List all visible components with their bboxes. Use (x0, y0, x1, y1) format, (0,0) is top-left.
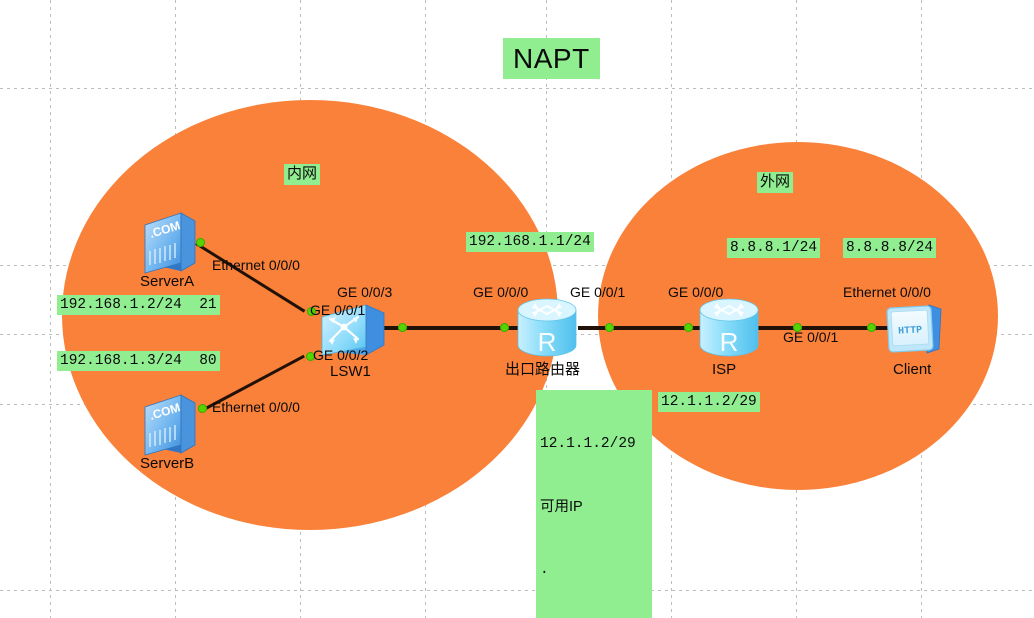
svg-text:HTTP: HTTP (898, 325, 923, 337)
address-tag-serverB: 192.168.1.3/24 80 (57, 351, 220, 371)
address-tag-client: 8.8.8.8/24 (843, 238, 936, 258)
svg-text:R: R (720, 327, 739, 357)
address-tag-serverA: 192.168.1.2/24 21 (57, 295, 220, 315)
address-tag-isp-ext: 8.8.8.1/24 (727, 238, 820, 258)
device-label-client: Client (893, 362, 931, 379)
router-icon: R (696, 297, 762, 359)
device-label-lsw1: LSW1 (330, 364, 371, 381)
iface-label-lsw1-ge3: GE 0/0/3 (337, 285, 392, 300)
link-dot-router-ge1 (605, 323, 614, 332)
device-serverA[interactable]: .COM (137, 211, 199, 275)
device-label-egress-router: 出口路由器 (505, 362, 580, 379)
server-com-icon: .COM (137, 393, 199, 457)
link-dot-isp-ge0 (684, 323, 693, 332)
device-label-serverB: ServerB (140, 456, 194, 473)
device-serverB[interactable]: .COM (137, 393, 199, 457)
iface-label-serverA-eth: Ethernet 0/0/0 (212, 258, 300, 273)
iface-label-isp-ge1: GE 0/0/1 (783, 330, 838, 345)
address-tag-isp-wan: 12.1.1.2/29 (658, 392, 760, 412)
diagram-title: NAPT (503, 38, 600, 79)
link-dot-lsw1-ge3 (398, 323, 407, 332)
iface-label-serverB-eth: Ethernet 0/0/0 (212, 400, 300, 415)
iface-label-isp-ge0: GE 0/0/0 (668, 285, 723, 300)
iface-label-router-ge1: GE 0/0/1 (570, 285, 625, 300)
router-icon: R (514, 297, 580, 359)
device-label-isp: ISP (712, 362, 736, 379)
http-client-icon: HTTP (885, 303, 947, 357)
iface-label-lsw1-ge1: GE 0/0/1 (310, 303, 365, 318)
zone-label-external: 外网 (757, 172, 793, 193)
address-tag-router-lan: 192.168.1.1/24 (466, 232, 594, 252)
iface-label-client-eth: Ethernet 0/0/0 (843, 285, 931, 300)
nat-pool-line-3: . (540, 560, 648, 581)
link-router-isp (578, 326, 700, 330)
nat-pool-line-1: 12.1.1.2/29 (540, 434, 648, 455)
link-dot-router-ge0 (500, 323, 509, 332)
network-topology-canvas: .COM ServerA .COM ServerB (0, 0, 1034, 618)
link-dot-serverB (198, 404, 207, 413)
svg-text:R: R (538, 327, 557, 357)
device-client[interactable]: HTTP (885, 303, 947, 357)
iface-label-router-ge0: GE 0/0/0 (473, 285, 528, 300)
link-dot-client (867, 323, 876, 332)
device-isp-router[interactable]: R (696, 297, 762, 359)
server-com-icon: .COM (137, 211, 199, 275)
nat-address-pool: 12.1.1.2/29 可用IP . . 12.1.1.6/29 (536, 390, 652, 618)
zone-label-internal: 内网 (284, 164, 320, 185)
device-label-serverA: ServerA (140, 274, 194, 291)
device-egress-router[interactable]: R (514, 297, 580, 359)
iface-label-lsw1-ge2: GE 0/0/2 (313, 348, 368, 363)
nat-pool-line-2: 可用IP (540, 497, 648, 518)
